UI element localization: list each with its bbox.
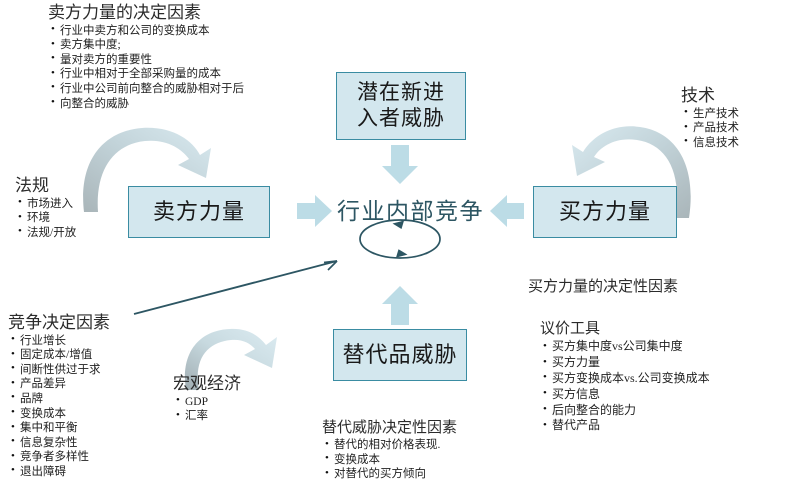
- list-item: 汇率: [176, 409, 241, 424]
- list-item: 生产技术: [684, 107, 739, 122]
- list-item: 卖方集中度;: [51, 38, 244, 53]
- list-item: 量对卖方的重要性: [51, 53, 244, 68]
- diagonal-arrow-competition: [134, 261, 337, 314]
- competition-determinants-list: 行业增长 固定成本/增值 间断性供过于求 产品差异 品牌 变换成本 集中和平衡 …: [8, 334, 110, 480]
- box-buyer-power-label: 买方力量: [559, 199, 651, 226]
- list-item: 集中和平衡: [11, 421, 110, 436]
- list-item: 买方信息: [543, 387, 710, 403]
- list-item: 固定成本/增值: [11, 348, 110, 363]
- block-regulation: 法规 市场进入 环境 法规/开放: [15, 176, 76, 240]
- list-item: 信息复杂性: [11, 436, 110, 451]
- box-supplier-power-label: 卖方力量: [153, 199, 245, 226]
- list-item: 产品技术: [684, 121, 739, 136]
- list-item: 间断性供过于求: [11, 363, 110, 378]
- block-arrow-substitutes-up: [382, 286, 418, 325]
- list-item: 产品差异: [11, 377, 110, 392]
- list-item: GDP: [176, 395, 241, 410]
- supplier-determinants-title: 卖方力量的决定因素: [48, 3, 244, 23]
- macro-economy-list: GDP 汇率: [173, 395, 241, 424]
- block-buyer-determinants-title: 买方力量的决定性因素: [528, 279, 678, 296]
- block-macro-economy: 宏观经济 GDP 汇率: [173, 374, 241, 424]
- list-item: 替代的相对价格表现.: [325, 438, 457, 453]
- block-arrow-new-entrants-down: [382, 145, 418, 184]
- supplier-determinants-list: 行业中卖方和公司的变换成本 卖方集中度; 量对卖方的重要性 行业中相对于全部采购…: [48, 24, 244, 112]
- block-arrow-buyer-left: [490, 195, 524, 227]
- list-item: 行业中公司前向整合的威胁相对于后: [51, 82, 244, 97]
- list-item: 市场进入: [18, 197, 76, 212]
- macro-economy-title: 宏观经济: [173, 374, 241, 394]
- list-item: 竞争者多样性: [11, 450, 110, 465]
- list-item: 变换成本: [11, 407, 110, 422]
- list-item: 变换成本: [325, 453, 457, 468]
- list-item: 对替代的买方倾向: [325, 467, 457, 482]
- list-item: 向整合的威胁: [51, 97, 244, 112]
- buyer-determinants-list: 买方集中度vs公司集中度 买方力量 买方变换成本vs.公司变换成本 买方信息 后…: [540, 339, 710, 434]
- box-substitutes-label: 替代品威胁: [342, 342, 457, 369]
- list-item: 买方变换成本vs.公司变换成本: [543, 371, 710, 387]
- regulation-list: 市场进入 环境 法规/开放: [15, 197, 76, 241]
- substitute-determinants-list: 替代的相对价格表现. 变换成本 对替代的买方倾向: [322, 438, 457, 482]
- box-new-entrants-line2: 入者威胁: [357, 106, 445, 132]
- list-item: 法规/开放: [18, 226, 76, 241]
- box-threat-of-substitutes[interactable]: 替代品威胁: [333, 329, 467, 381]
- block-technology: 技术 生产技术 产品技术 信息技术: [681, 86, 739, 150]
- list-item: 买方集中度vs公司集中度: [543, 339, 710, 355]
- box-supplier-power[interactable]: 卖方力量: [128, 186, 270, 238]
- box-new-entrants-line1: 潜在新进: [357, 80, 445, 106]
- box-buyer-power[interactable]: 买方力量: [533, 186, 677, 238]
- list-item: 信息技术: [684, 136, 739, 151]
- box-threat-of-new-entrants[interactable]: 潜在新进 入者威胁: [336, 72, 466, 140]
- list-item: 行业中相对于全部采购量的成本: [51, 67, 244, 82]
- list-item: 买方力量: [543, 355, 710, 371]
- block-supplier-determinants: 卖方力量的决定因素 行业中卖方和公司的变换成本 卖方集中度; 量对卖方的重要性 …: [48, 3, 244, 111]
- competition-determinants-title: 竞争决定因素: [8, 313, 110, 333]
- buyer-determinants-title: 买方力量的决定性因素: [528, 279, 678, 296]
- list-item: 环境: [18, 211, 76, 226]
- list-item: 后向整合的能力: [543, 403, 710, 419]
- list-item: 行业增长: [11, 334, 110, 349]
- substitute-determinants-title: 替代威胁决定性因素: [322, 420, 457, 437]
- list-item: 行业中卖方和公司的变换成本: [51, 24, 244, 39]
- center-label-industry-rivalry: 行业内部竞争: [337, 192, 484, 226]
- list-item: 退出障碍: [11, 465, 110, 480]
- block-substitute-determinants: 替代威胁决定性因素 替代的相对价格表现. 变换成本 对替代的买方倾向: [322, 420, 457, 482]
- regulation-title: 法规: [15, 176, 76, 196]
- porter-five-forces-diagram: 潜在新进 入者威胁 卖方力量 买方力量 替代品威胁 行业内部竞争 卖方力量的决定…: [0, 0, 800, 491]
- buyer-determinants-subtitle: 议价工具: [540, 321, 710, 338]
- block-competition-determinants: 竞争决定因素 行业增长 固定成本/增值 间断性供过于求 产品差异 品牌 变换成本…: [8, 313, 110, 479]
- block-arrow-supplier-right: [297, 195, 332, 227]
- technology-list: 生产技术 产品技术 信息技术: [681, 107, 739, 151]
- technology-title: 技术: [681, 86, 739, 106]
- block-buyer-determinants: 议价工具 买方集中度vs公司集中度 买方力量 买方变换成本vs.公司变换成本 买…: [540, 321, 710, 434]
- list-item: 品牌: [11, 392, 110, 407]
- list-item: 替代产品: [543, 418, 710, 434]
